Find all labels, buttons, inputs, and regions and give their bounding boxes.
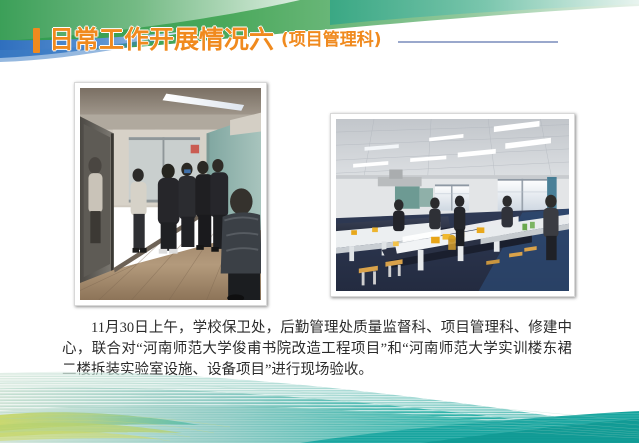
presentation-slide: 日常工作开展情况六 (项目管理科)	[0, 0, 639, 443]
body-paragraph: 11月30日上午，学校保卫处，后勤管理处质量监督科、项目管理科、修建中心，联合对…	[62, 318, 572, 381]
slide-body-text: 11月30日上午，学校保卫处，后勤管理处质量监督科、项目管理科、修建中心，联合对…	[62, 318, 572, 381]
corridor-photo-graphic	[80, 88, 261, 300]
laboratory-inspection-photo	[330, 113, 575, 297]
page-title: 日常工作开展情况六	[49, 27, 274, 53]
title-accent-bar	[33, 28, 40, 53]
page-subtitle: (项目管理科)	[281, 27, 382, 53]
laboratory-photo-graphic	[336, 119, 569, 291]
title-divider-line	[398, 41, 558, 43]
slide-title-row: 日常工作开展情况六 (项目管理科)	[0, 22, 639, 58]
corridor-photo-inner	[80, 88, 261, 300]
laboratory-photo-inner	[336, 119, 569, 291]
corridor-inspection-photo	[74, 82, 267, 306]
